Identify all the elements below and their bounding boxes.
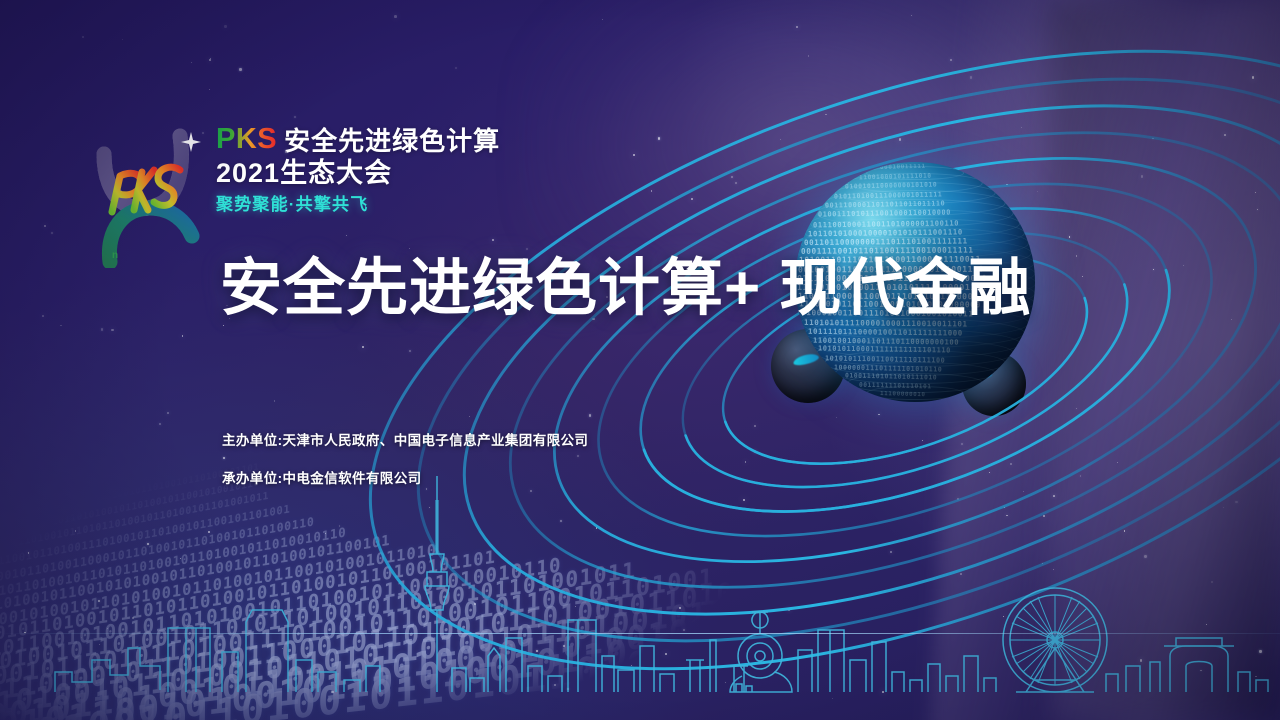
poster-canvas: 1001011010010110010100101101010010110100…: [0, 0, 1280, 720]
vignette: [0, 0, 1280, 720]
